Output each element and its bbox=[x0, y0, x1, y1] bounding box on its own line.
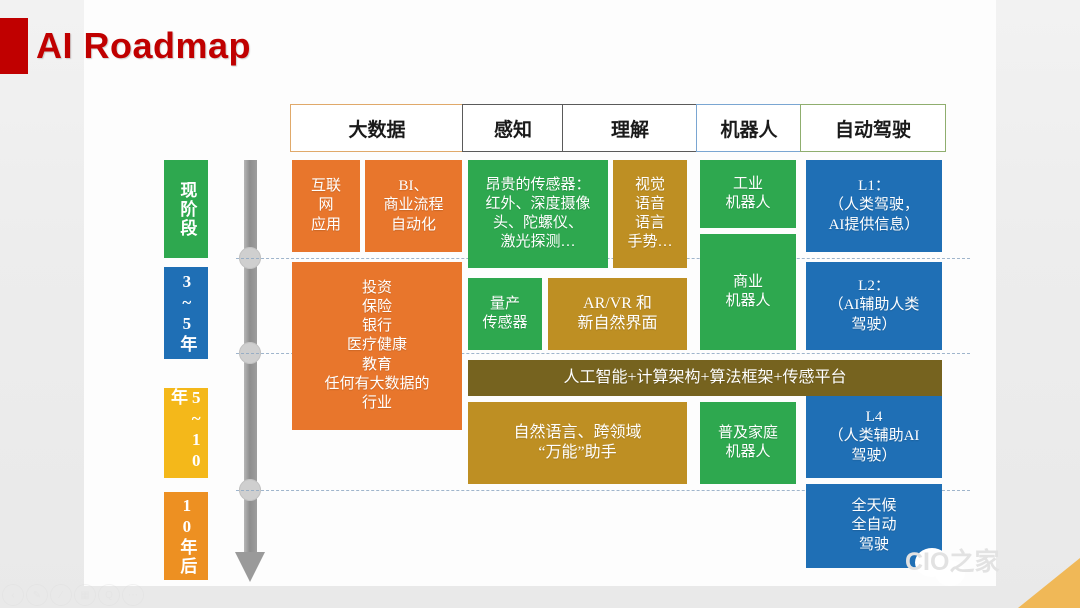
watermark: CIO之家 bbox=[905, 542, 999, 578]
stage-label-4[interactable]: 10年后 bbox=[164, 492, 208, 580]
bottom-toolbar[interactable]: ‹✎∕▦Q⋯ bbox=[2, 584, 144, 606]
column-header-5[interactable]: 自动驾驶 bbox=[800, 104, 946, 152]
title-accent-bar bbox=[0, 18, 28, 74]
zoom-icon[interactable]: Q bbox=[98, 584, 120, 606]
column-header-3[interactable]: 理解 bbox=[562, 104, 698, 152]
perception-modalities[interactable]: 视觉 语音 语言 手势… bbox=[613, 160, 687, 268]
internet-applications[interactable]: 互联 网 应用 bbox=[292, 160, 360, 252]
home-robots[interactable]: 普及家庭 机器人 bbox=[700, 402, 796, 484]
stage-label-2[interactable]: 3~5年 bbox=[164, 267, 208, 359]
stage-label-1[interactable]: 现阶段 bbox=[164, 160, 208, 258]
watermark-label: CIO之家 bbox=[905, 542, 999, 578]
timeline-arrow-head bbox=[235, 552, 265, 582]
column-header-4[interactable]: 机器人 bbox=[696, 104, 802, 152]
ai-platform-bar[interactable]: 人工智能+计算架构+算法框架+传感平台 bbox=[468, 360, 942, 396]
more-icon[interactable]: ⋯ bbox=[122, 584, 144, 606]
l2-autonomy[interactable]: L2： （AI辅助人类 驾驶） bbox=[806, 262, 942, 350]
commercial-robots[interactable]: 商业 机器人 bbox=[700, 234, 796, 350]
corner-triangle-decoration bbox=[1018, 558, 1080, 608]
page-icon[interactable]: ▦ bbox=[74, 584, 96, 606]
page-title: AI Roadmap bbox=[0, 18, 251, 74]
column-header-1[interactable]: 大数据 bbox=[290, 104, 464, 152]
bigdata-industries[interactable]: 投资 保险 银行 医疗健康 教育 任何有大数据的 行业 bbox=[292, 262, 462, 430]
nlp-universal-assistant[interactable]: 自然语言、跨领域 “万能”助手 bbox=[468, 402, 687, 484]
title-label: AI Roadmap bbox=[36, 25, 251, 67]
expensive-sensors[interactable]: 昂贵的传感器： 红外、深度摄像 头、陀螺仪、 激光探测… bbox=[468, 160, 608, 268]
bi-business-process[interactable]: BI、 商业流程 自动化 bbox=[365, 160, 462, 252]
mass-produced-sensors[interactable]: 量产 传感器 bbox=[468, 278, 542, 350]
column-header-2[interactable]: 感知 bbox=[462, 104, 564, 152]
arvr-natural-interface[interactable]: AR/VR 和 新自然界面 bbox=[548, 278, 687, 350]
pointer-icon[interactable]: ✎ bbox=[26, 584, 48, 606]
l4-autonomy[interactable]: L4 （人类辅助AI 驾驶） bbox=[806, 396, 942, 478]
back-icon[interactable]: ‹ bbox=[2, 584, 24, 606]
l1-autonomy[interactable]: L1： （人类驾驶， AI提供信息） bbox=[806, 160, 942, 252]
pen-icon[interactable]: ∕ bbox=[50, 584, 72, 606]
stage-label-3[interactable]: 5~10年 bbox=[164, 388, 208, 478]
industrial-robots[interactable]: 工业 机器人 bbox=[700, 160, 796, 228]
